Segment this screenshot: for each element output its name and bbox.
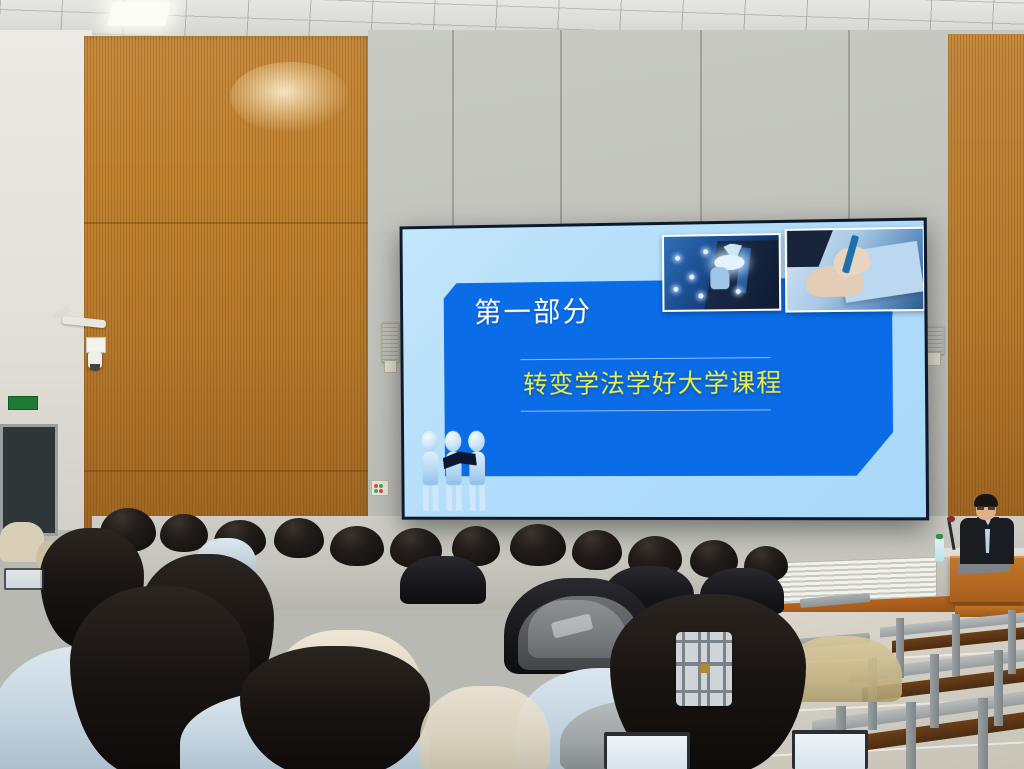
hand-shape (710, 267, 730, 289)
figure-icon (444, 431, 461, 511)
wood-panel-seam (84, 222, 374, 224)
audience-jacket (400, 556, 486, 604)
laptop-screen (607, 736, 687, 769)
side-door[interactable] (0, 424, 58, 536)
seat-leg (994, 650, 1003, 726)
seat-leg (1008, 610, 1016, 674)
camera-wall-plate (86, 337, 106, 353)
audience-head (274, 518, 324, 558)
audience-head (240, 646, 430, 769)
exit-sign (8, 396, 38, 410)
wall-notice-sign (371, 480, 389, 496)
seat-leg (930, 654, 939, 728)
projection-screen: 第一部分 转变学法学好大学课程 (402, 221, 926, 518)
audience-jacket (420, 686, 550, 769)
wood-panel-seam (84, 470, 374, 472)
audience-head (572, 530, 622, 570)
camera-lens-icon (90, 364, 100, 371)
seat-leg (952, 614, 960, 676)
dark-desk-shape (787, 230, 833, 267)
lecture-hall-photo: 第一部分 转变学法学好大学课程 (0, 0, 1024, 769)
seat-leg (906, 702, 916, 769)
ceiling-light-panel (107, 2, 170, 26)
seat-leg (978, 698, 988, 769)
slide-title: 第一部分 (474, 290, 592, 331)
wall-control-panel-left[interactable] (382, 322, 399, 362)
hands-writing-with-pen-photo (785, 226, 926, 312)
wood-panel-light-glare (230, 62, 350, 132)
audience-head (510, 524, 566, 566)
laptop-screen (795, 734, 865, 769)
student-laptop[interactable] (4, 568, 44, 590)
microphone-icon (947, 516, 955, 522)
wall-socket-right[interactable] (927, 352, 941, 366)
three-blue-3d-figures-reading-book (419, 389, 532, 511)
businessman-cloud-network-photo (662, 233, 782, 312)
student-laptop[interactable] (604, 732, 690, 769)
bottle-cap (936, 534, 943, 539)
slide-subtitle: 转变学法学好大学课程 (523, 363, 783, 401)
student-laptop[interactable] (792, 730, 868, 769)
wood-wall-panel-right (948, 34, 1024, 534)
figure-icon (421, 431, 438, 511)
hair-clip-knob (700, 664, 710, 673)
figure-icon (468, 431, 485, 511)
laptop-screen (6, 570, 42, 588)
wall-control-panel-right[interactable] (925, 326, 944, 354)
audience-head (330, 526, 384, 566)
water-bottle (935, 538, 944, 562)
projection-screen-frame: 第一部分 转变学法学好大学课程 (400, 217, 930, 520)
wall-socket-left[interactable] (384, 360, 397, 373)
presenter-glasses-icon (977, 506, 995, 510)
